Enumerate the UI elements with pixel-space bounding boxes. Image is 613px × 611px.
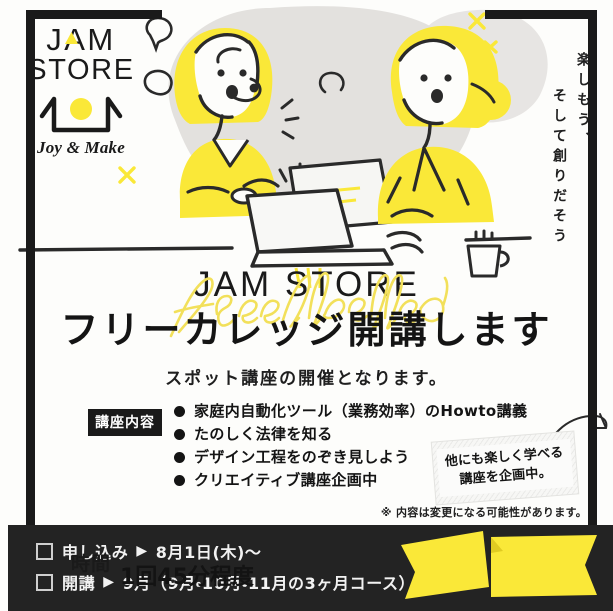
logo-jam-label: JAM: [46, 22, 116, 57]
list-item-label: デザイン工程をのぞき見しよう: [194, 450, 410, 465]
triangle-right-icon: ▶: [103, 574, 114, 590]
headline-sub: スポット講座の開催となります。: [0, 364, 613, 389]
brand-logo: JAM STORE Joy & Make: [22, 24, 140, 158]
frame-right: [588, 10, 597, 525]
bullet-dot-icon: [174, 406, 185, 417]
logo-a-triangle-icon: [65, 32, 78, 44]
frame-left: [26, 10, 35, 525]
bullet-dot-icon: [174, 475, 185, 486]
house-roof-sun-icon: [36, 92, 126, 136]
course-content-label: 講座内容: [88, 409, 162, 436]
duration-ribbon-label: 時間: [71, 549, 111, 576]
list-item-label: クリエイティブ講座企画中: [194, 473, 378, 488]
list-item: 家庭内自動化ツール（業務効率）のHowto講義: [174, 404, 574, 419]
side-note-text: 他にも楽しく学べる 講座を企画中。: [436, 439, 574, 497]
list-item-label: 家庭内自動化ツール（業務効率）のHowto講義: [194, 404, 527, 419]
headline-main: フリーカレッジ開講します: [0, 307, 613, 355]
vertical-tagline-left: そして創りだそう: [549, 88, 569, 248]
logo-jam-text: JAM: [22, 24, 140, 57]
duration-ribbon-shape: [399, 523, 605, 607]
side-note-card: 他にも楽しく学べる 講座を企画中。: [432, 432, 578, 505]
list-item-label: たのしく法律を知る: [194, 427, 333, 442]
frame-top-right: [485, 10, 597, 19]
logo-store-label: STORE: [22, 55, 140, 85]
poster-root: JAM STORE Joy & Make 楽しもう、 そして創りだそう JAM …: [0, 0, 613, 611]
headline-eyebrow: JAM STORE: [0, 266, 613, 305]
triangle-right-icon: ▶: [136, 543, 147, 559]
headline-block: JAM STORE フリーカレッジ開講します: [0, 266, 613, 389]
frame-top-left: [26, 10, 162, 19]
duration-ribbon-value: 1回45分程度: [120, 559, 254, 591]
checkbox-icon: [36, 543, 53, 560]
logo-tagline-script: Joy & Make: [22, 138, 140, 158]
disclaimer-text: ※ 内容は変更になる可能性があります。: [381, 504, 587, 520]
bullet-dot-icon: [174, 429, 185, 440]
bullet-dot-icon: [174, 452, 185, 463]
checkbox-icon: [36, 574, 53, 591]
bottom-info-bar: 申し込み ▶ 8月1日(木)〜 開講 ▶ 9月（9月・10月・11月の3ヶ月コー…: [8, 525, 613, 611]
